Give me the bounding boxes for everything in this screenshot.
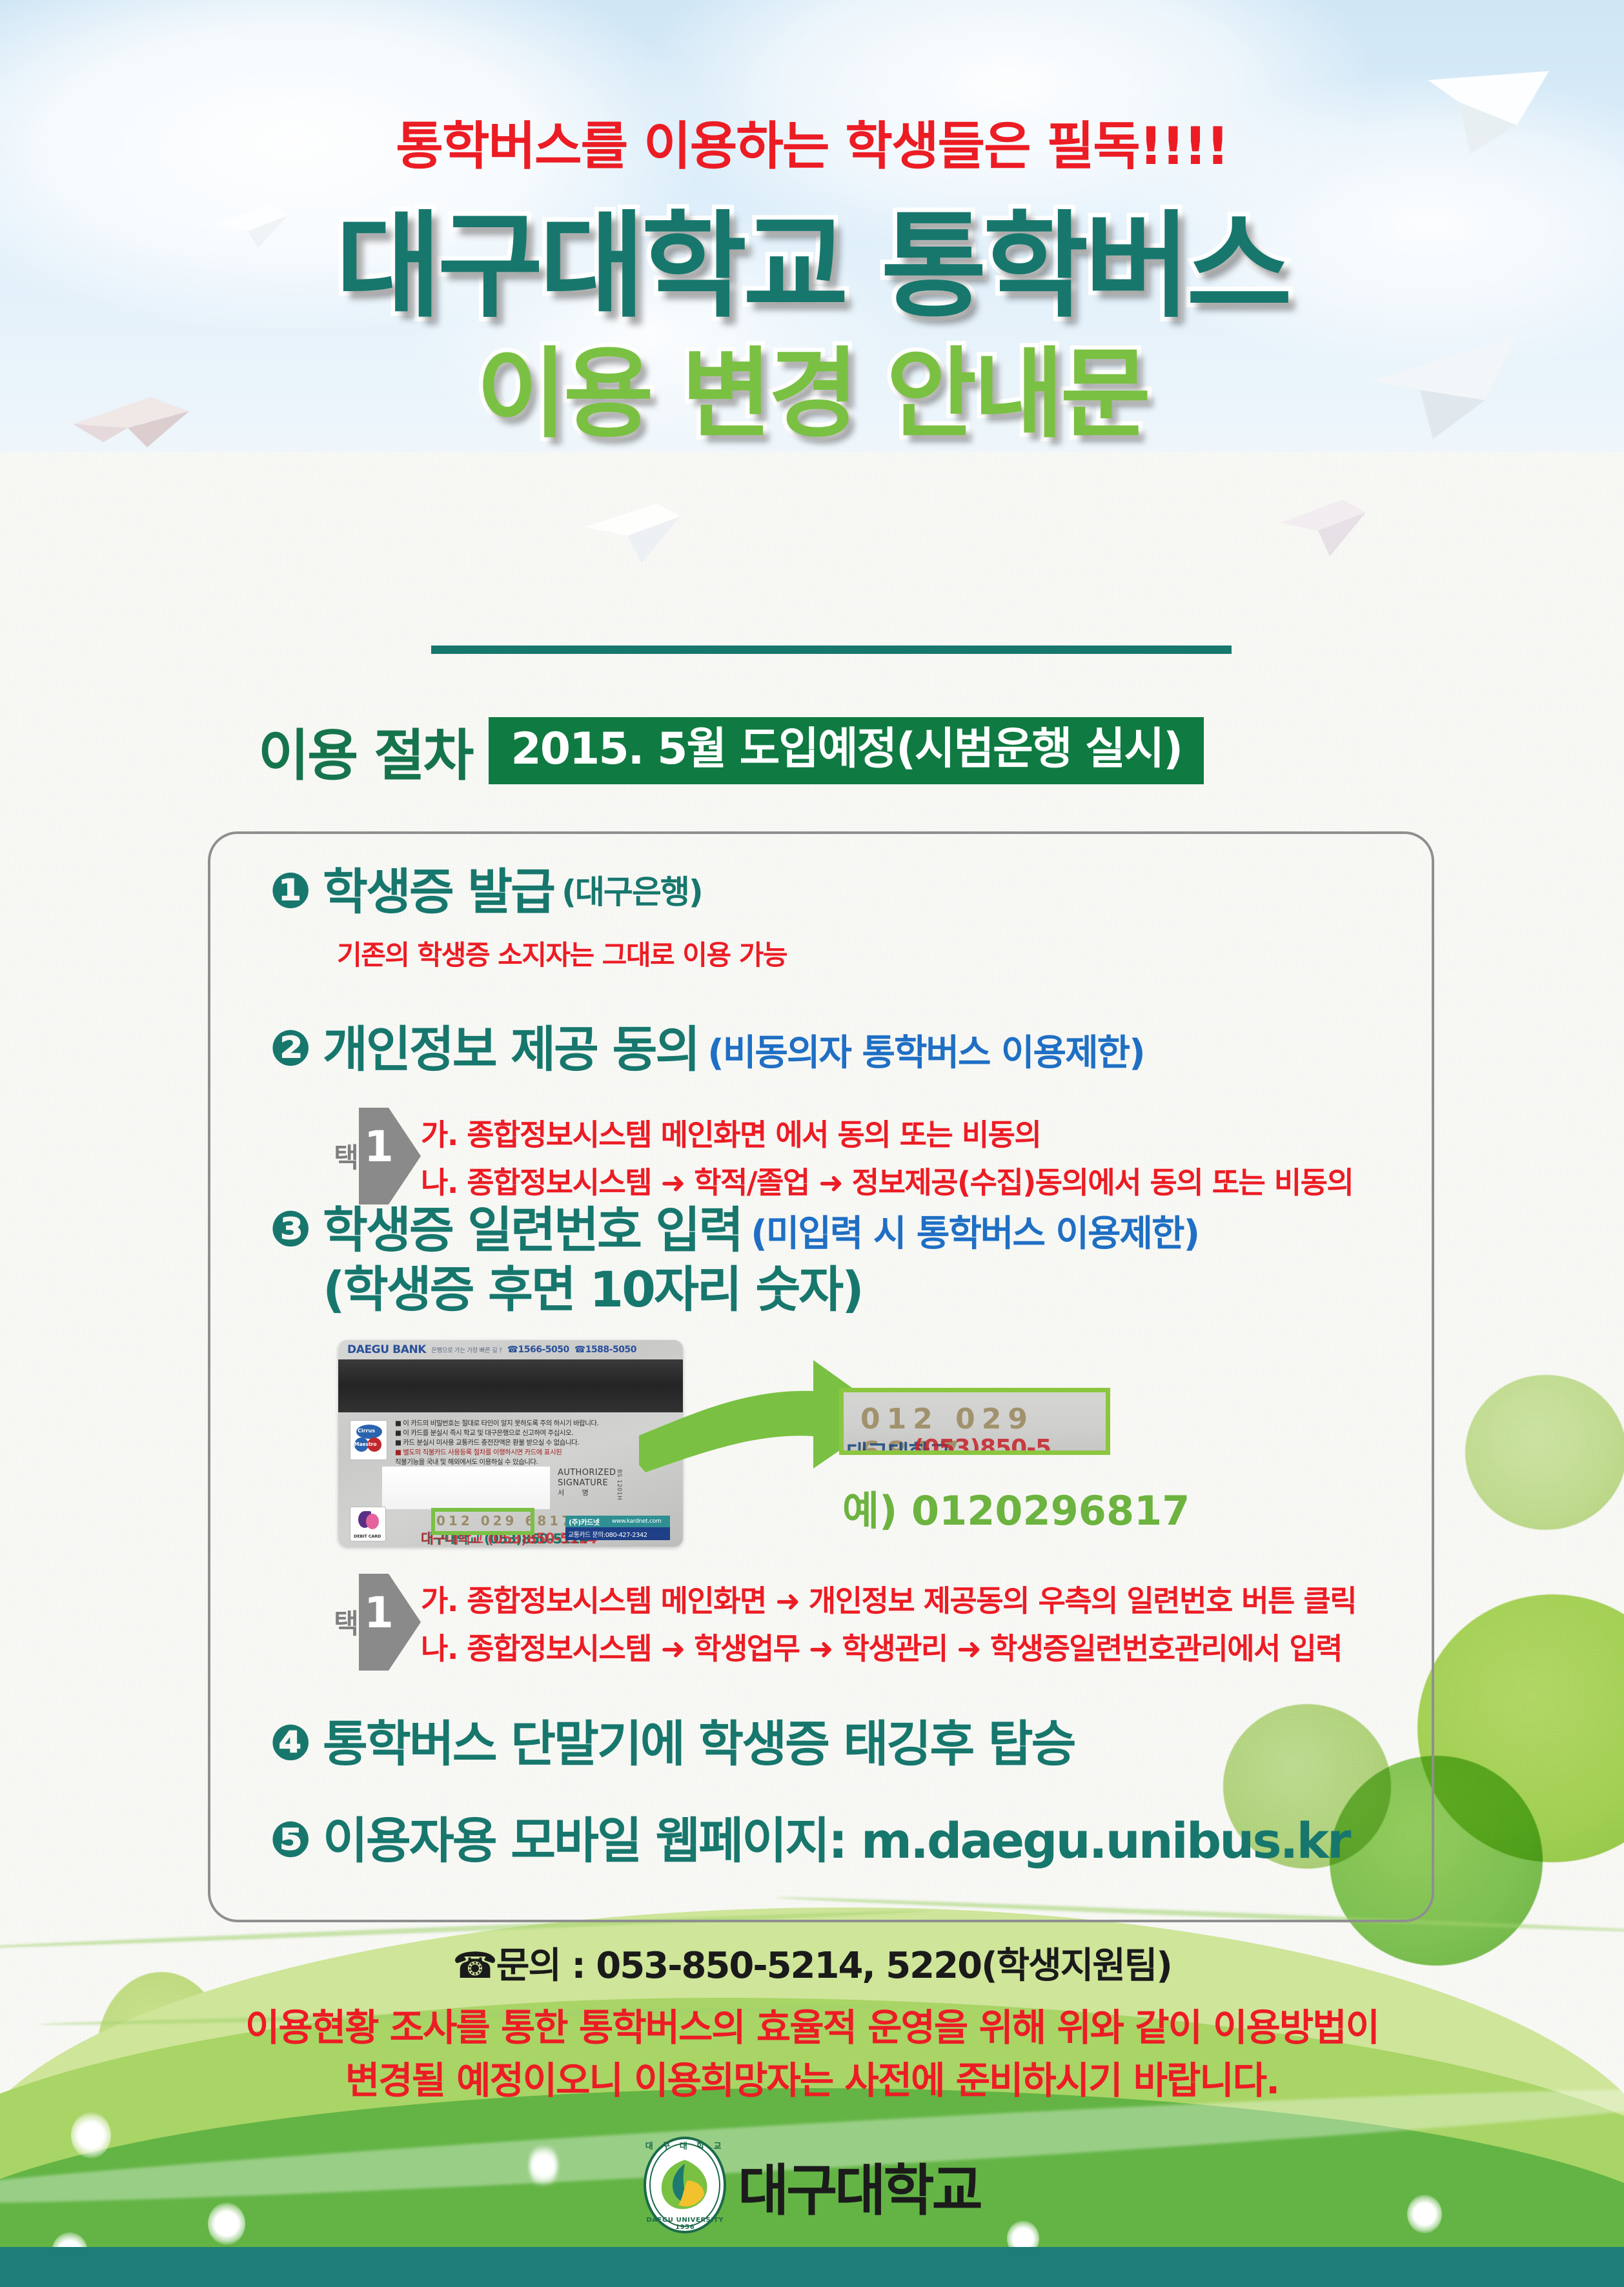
pick-arrow-icon: 1 [359,1574,421,1671]
serial-highlight-box [431,1508,534,1535]
card-bs-code: BS 1201H [616,1469,622,1500]
university-wordmark: 대구대학교 [738,2145,980,2226]
card-notes: ■ 이 카드의 비밀번호는 절대로 타인이 알지 못하도록 주의 하시기 바랍니… [395,1419,627,1467]
cirrus-label: Cirrus [358,1428,375,1434]
card-tel-2: ☎1588-5050 [574,1345,636,1355]
step-3-pick-one-marker: 택 1 [330,1574,421,1671]
notice-line-2: 변경될 예정이오니 이용희망자는 사전에 준비하시기 바랍니다. [0,2054,1624,2107]
card-tel-1: ☎1566-5050 [507,1345,569,1355]
emblem-gem [659,2159,711,2211]
step-3-number: ❸ [270,1204,323,1254]
step-2-option-a: 가. 종합정보시스템 메인화면 에서 동의 또는 비동의 [421,1112,1040,1154]
debit-card-label: DEBIT CARD [354,1534,381,1539]
step-2-option-b: 나. 종합정보시스템 ➜ 학적/졸업 ➜ 정보제공(수집)동의에서 동의 또는 … [421,1159,1353,1202]
card-note-2: ■ 이 카드를 분실시 즉시 학교 및 대구은행으로 신고하여 주십시오. [395,1428,627,1438]
step-1-subtext: 기존의 학생증 소지자는 그대로 이용 가능 [337,933,787,973]
step-3-title: 학생증 일련번호 입력 [323,1204,742,1256]
card-header: DAEGU BANK 은행으로 가는 가장 빠른 길 ? ☎1566-5050 … [338,1340,683,1359]
kardnet-url: www.kardnet.com [612,1518,661,1525]
pick-label: 택 [330,1609,358,1635]
step-3-subline: (학생증 후면 10자리 숫자) [323,1264,862,1316]
step-2-paren: (비동의자 통학버스 이용제한) [698,1024,1144,1081]
step-4-title: 통학버스 단말기에 학생증 태깅후 탑승 [323,1718,1075,1770]
step-5-title: 이용자용 모바일 웹페이지: m.daegu.unibus.kr [323,1815,1349,1867]
section-header: 이용 절차 2015. 5월 도입예정(시범운행 실시) [258,710,1204,791]
step-3: ❸ 학생증 일련번호 입력 (미입력 시 통학버스 이용제한) [270,1204,1199,1262]
pick-number: 1 [364,1126,394,1168]
kardnet-name: (주)카드넷 [569,1517,600,1527]
step-1-number: ❶ [270,866,323,915]
step-1: ❶ 학생증 발급 (대구은행) [270,866,702,919]
poster-canvas: 통학버스를 이용하는 학생들은 필독!!!! 대구대학교 통학버스 이용 변경 … [0,0,1624,2287]
emblem-top-text: 대 구 대 학 교 [644,2139,726,2151]
signature-label-kr: 서 명 [558,1489,616,1497]
contact-line: ☎문의 : 053-850-5214, 5220(학생지원팀) [0,1936,1624,1989]
step-1-title: 학생증 발급 [323,866,554,918]
step-5: ❺ 이용자용 모바일 웹페이지: m.daegu.unibus.kr [270,1815,1349,1867]
maestro-label: Maestro [354,1441,377,1447]
title-line-1: 대구대학교 통학버스 [0,207,1624,327]
poster-title: 대구대학교 통학버스 이용 변경 안내문 [0,207,1624,447]
magnetic-stripe [338,1359,683,1412]
pick-arrow-icon: 1 [359,1108,421,1204]
pick-number: 1 [364,1592,394,1634]
card-slogan: 은행으로 가는 가장 빠른 길 ? [431,1345,502,1354]
section-banner: 2015. 5월 도입예정(시범운행 실시) [489,717,1204,784]
notice-block: 이용현황 조사를 통한 통학버스의 효율적 운영을 위해 위와 같이 이용방법이… [0,2001,1624,2108]
headline: 통학버스를 이용하는 학생들은 필독!!!! [0,105,1624,179]
card-note-5: 직불기능을 국내 및 해외에서도 이용하실 수 있습니다. [395,1458,627,1467]
card-note-1: ■ 이 카드의 비밀번호는 절대로 타인이 알지 못하도록 주의 하시기 바랍니… [395,1419,627,1428]
step-3-option-a: 가. 종합정보시스템 메인화면 ➜ 개인정보 제공동의 우측의 일련번호 버튼 … [421,1578,1356,1620]
title-line-2: 이용 변경 안내문 [0,341,1624,447]
callout-under-red: (053)850-5 [913,1435,1051,1455]
step-2: ❷ 개인정보 제공 동의 (비동의자 통학버스 이용제한) [270,1024,1144,1081]
step-2-pick-one-marker: 택 1 [330,1108,421,1204]
serial-example-text: 예) 0120296817 [842,1478,1190,1536]
step-4-number: ❹ [270,1718,323,1767]
authorized-label: AUTHORIZED [558,1468,616,1478]
cirrus-maestro-logo: Cirrus Maestro [350,1420,387,1460]
signature-label: SIGNATURE [558,1478,616,1489]
step-4: ❹ 통학버스 단말기에 학생증 태깅후 탑승 [270,1718,1075,1770]
notice-line-1: 이용현황 조사를 통한 통학버스의 효율적 운영을 위해 위와 같이 이용방법이 [0,2001,1624,2054]
step-2-title: 개인정보 제공 동의 [323,1024,698,1075]
serial-magnified-callout: 012 029 6817 대구대학교 (053)850-5 [839,1388,1110,1455]
section-title: 이용 절차 [258,710,472,791]
title-divider [431,645,1232,654]
pick-label: 택 [330,1143,358,1169]
bank-card-image: DAEGU BANK 은행으로 가는 가장 빠른 길 ? ☎1566-5050 … [338,1340,683,1547]
card-brand: DAEGU BANK [347,1343,426,1356]
card-note-4: ■ 별도의 직불카드 사용등록 절차를 이행하시면 카드에 표시된 [395,1448,627,1458]
debit-card-logo: DEBIT CARD [350,1507,386,1541]
step-3-paren: (미입력 시 통학버스 이용제한) [742,1204,1199,1262]
step-1-paren: (대구은행) [554,866,702,919]
kardnet-tel: 교통카드 문의:080-427-2342 [568,1529,647,1539]
step-2-number: ❷ [270,1024,323,1073]
authorized-signature-label: AUTHORIZED SIGNATURE 서 명 [558,1468,616,1497]
university-brand: 대 구 대 학 교 DAEGU UNIVERSITY 1956 대구대학교 [0,2137,1624,2233]
emblem-bottom-text: DAEGU UNIVERSITY 1956 [644,2217,726,2231]
card-note-3: ■ 카드 분실시 미사용 교통카드 충전잔액은 환불 받으실 수 없습니다. [395,1438,627,1448]
university-emblem-icon: 대 구 대 학 교 DAEGU UNIVERSITY 1956 [644,2137,726,2233]
signature-box [382,1467,550,1509]
step-3-option-b: 나. 종합정보시스템 ➜ 학생업무 ➜ 학생관리 ➜ 학생증일련번호관리에서 입… [421,1625,1342,1668]
step-5-number: ❺ [270,1815,323,1864]
